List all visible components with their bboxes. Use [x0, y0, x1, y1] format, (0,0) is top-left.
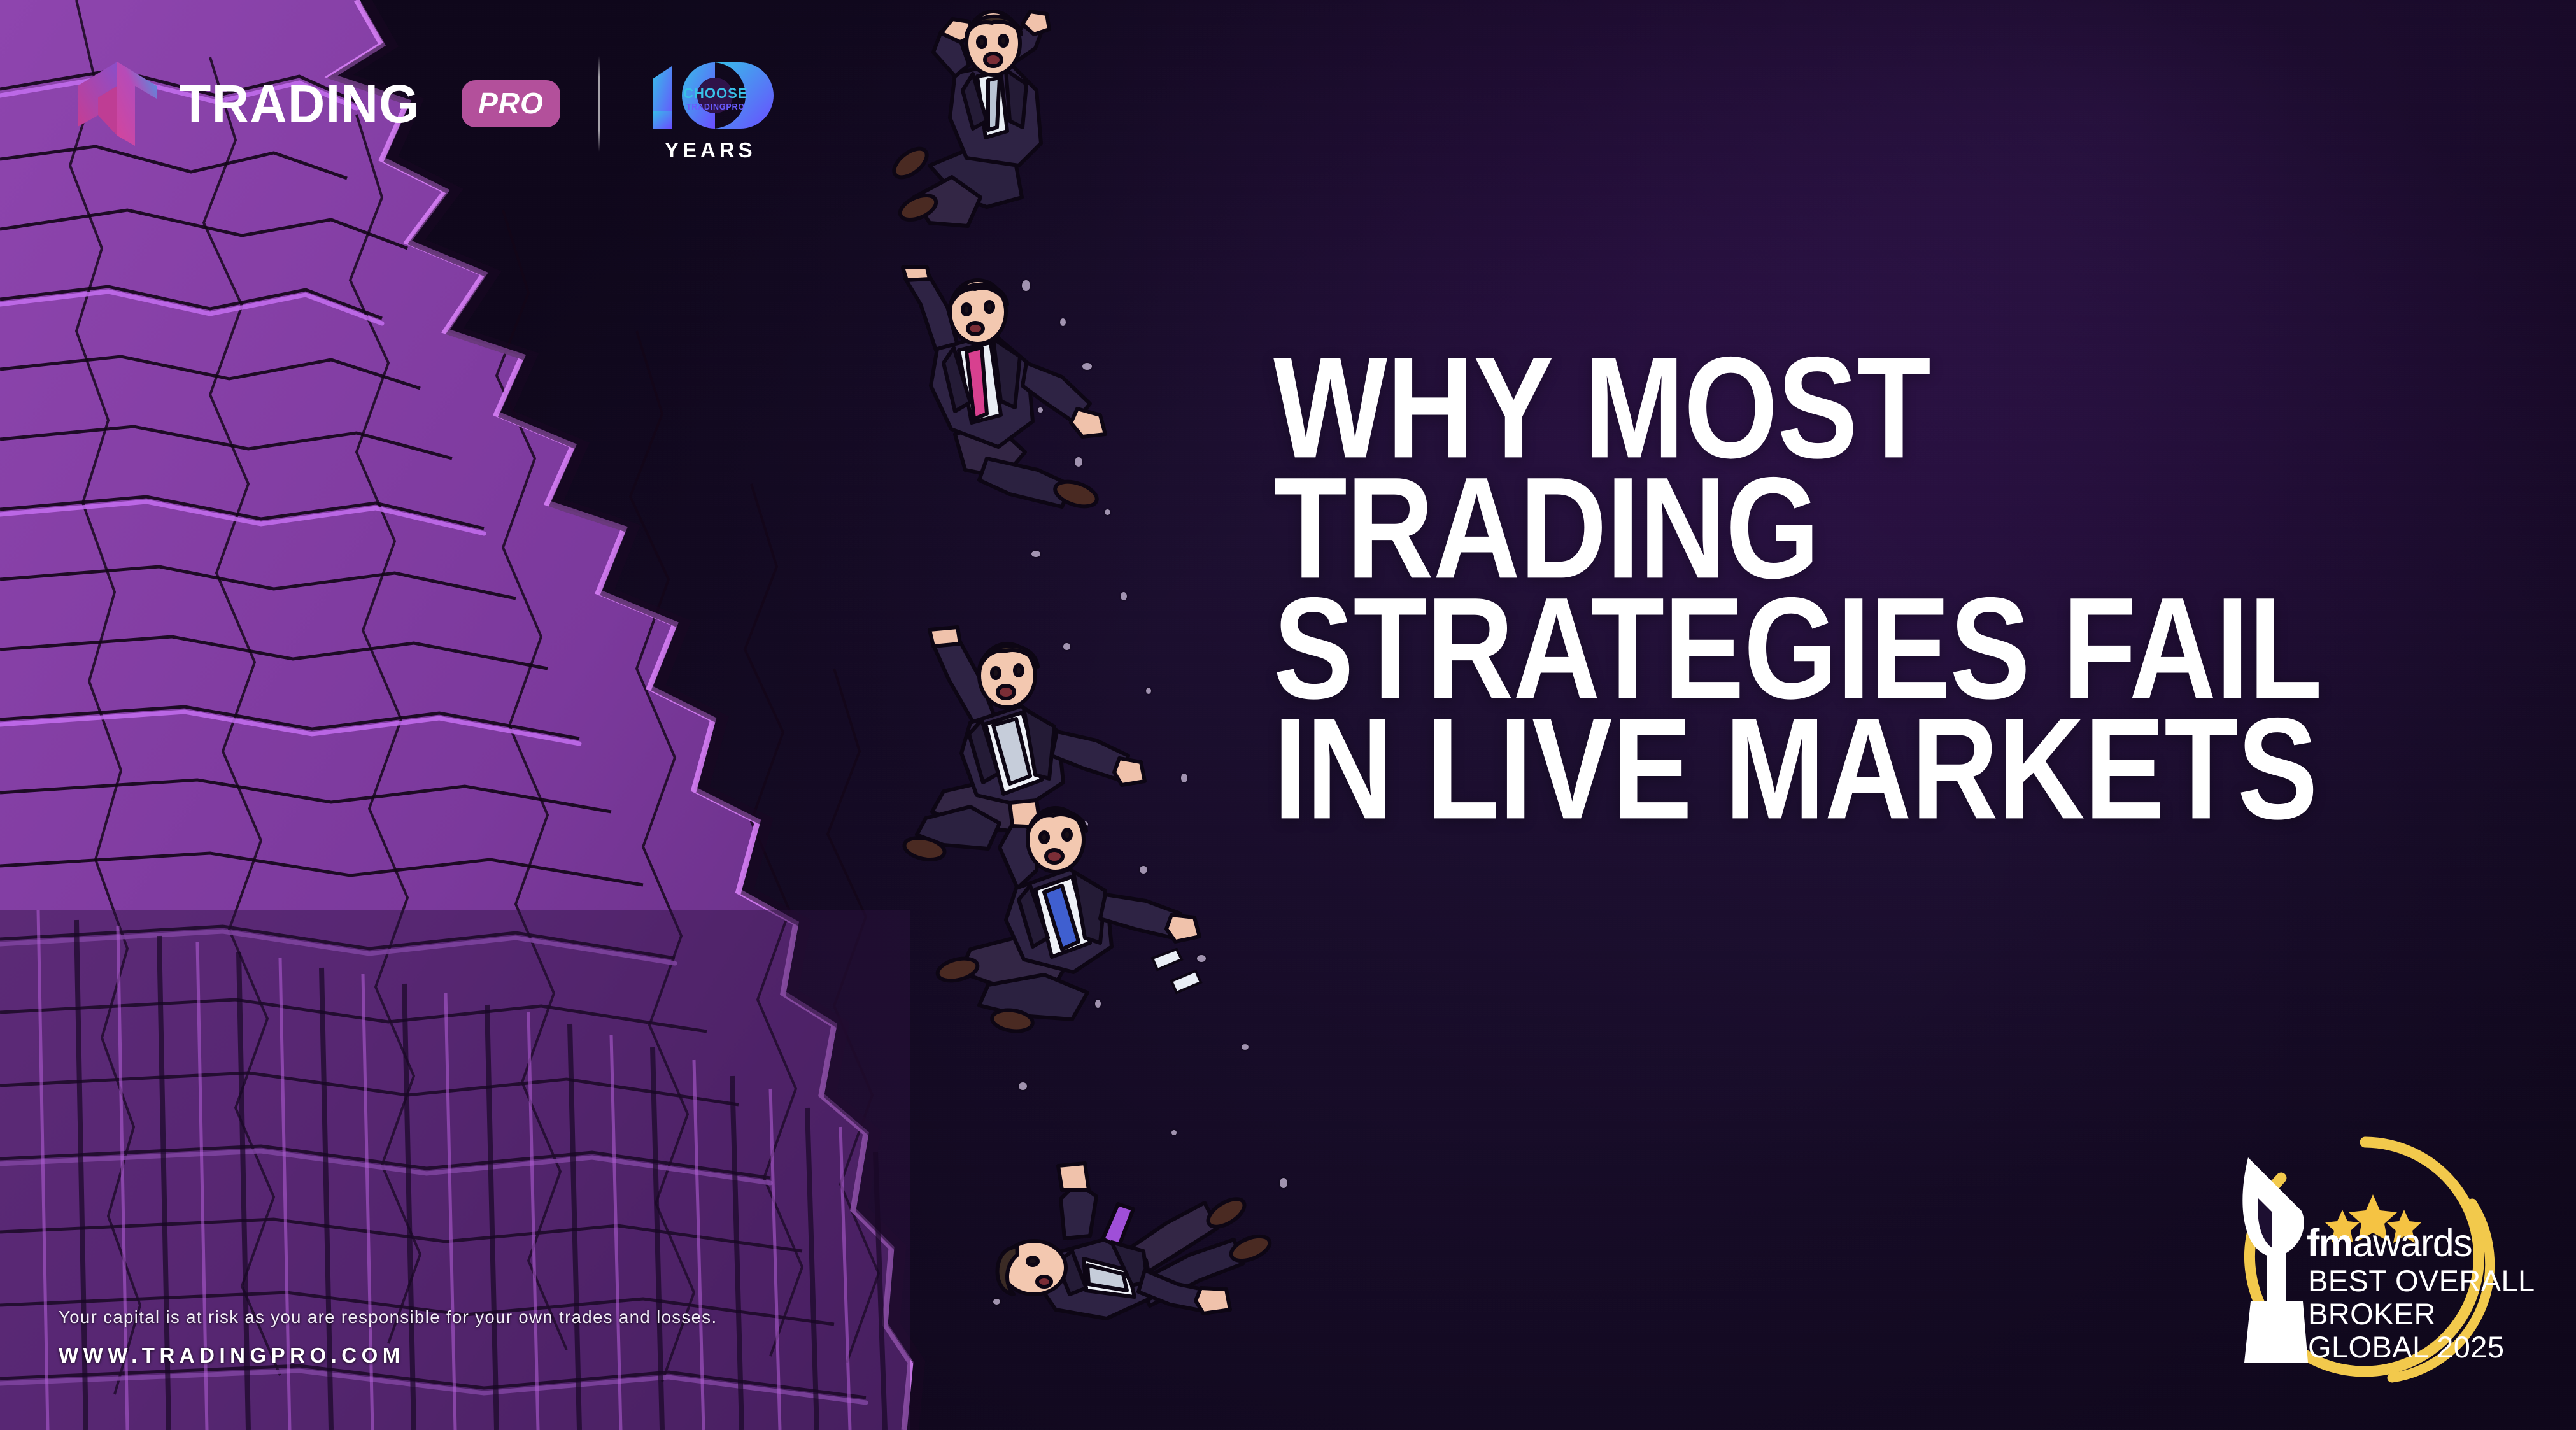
website-url[interactable]: WWW.TRADINGPRO.COM [59, 1343, 405, 1368]
tradingpro-arrow-logo-icon [76, 60, 158, 147]
falling-figure-5 [987, 1124, 1267, 1347]
logo-divider [598, 56, 600, 152]
falling-figure-4 [936, 799, 1203, 1041]
anniversary-years-label: YEARS [644, 139, 777, 160]
fm-awards-badge: fmawards BEST OVERALL BROKER GLOBAL 2025 [2206, 1128, 2524, 1396]
risk-disclaimer: Your capital is at risk as you are respo… [59, 1307, 718, 1327]
headline-line-4: IN LIVE MARKETS [1273, 679, 2559, 859]
brand-wordmark: TRADING [180, 77, 420, 131]
pro-badge-label: PRO [478, 88, 544, 118]
anniversary-inner-bottom: TRADINGPRO [681, 103, 751, 111]
brand-logo-row: TRADING PRO [76, 50, 777, 158]
banner-canvas: TRADING PRO [0, 0, 2576, 1430]
anniversary-badge: CHOOSE TRADINGPRO YEARS [644, 50, 777, 158]
anniversary-inner-top: CHOOSE [681, 87, 751, 101]
pro-badge: PRO [462, 80, 560, 127]
award-stars [2325, 1194, 2421, 1243]
headline-block: WHY MOST TRADING STRATEGIES FAIL IN LIVE… [1273, 318, 2534, 800]
falling-figure-1 [891, 6, 1095, 242]
cliff-illustration [0, 0, 974, 1430]
flying-paper [1152, 949, 1201, 993]
falling-figure-2 [891, 267, 1121, 522]
